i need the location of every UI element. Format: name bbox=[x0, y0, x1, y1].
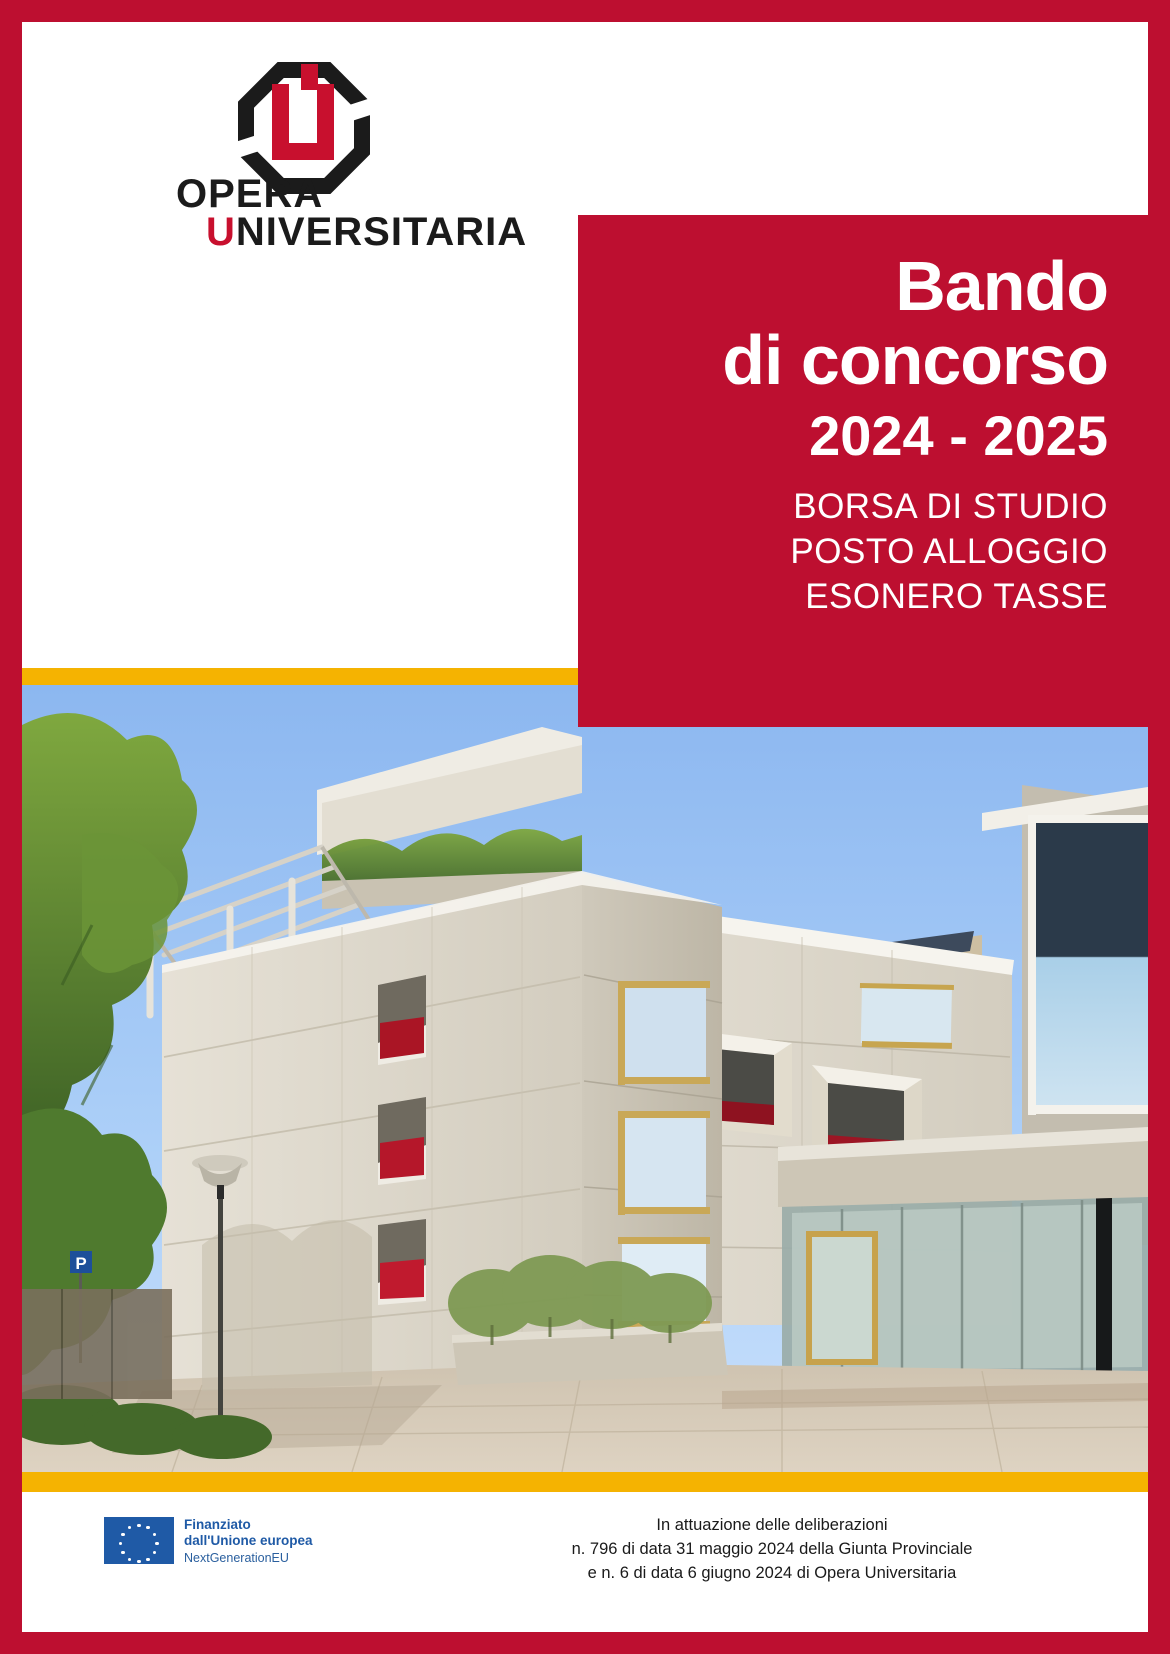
eu-text-line-3: NextGenerationEU bbox=[184, 1551, 312, 1566]
title-line-1: Bando bbox=[612, 249, 1108, 323]
frame-right bbox=[1148, 0, 1170, 1654]
accent-bar-bottom bbox=[22, 1472, 1148, 1492]
eu-text-line-1: Finanziato bbox=[184, 1517, 312, 1533]
eu-funding-logo: Finanziato dall'Unione europea NextGener… bbox=[104, 1517, 312, 1566]
deliberation-line-3: e n. 6 di data 6 giugno 2024 di Opera Un… bbox=[452, 1562, 1092, 1586]
logo-area: OPERA UNIVERSITARIA bbox=[22, 22, 582, 668]
deliberation-note: In attuazione delle deliberazioni n. 796… bbox=[452, 1514, 1092, 1586]
title-line-2: di concorso bbox=[612, 323, 1108, 397]
title-years: 2024 - 2025 bbox=[612, 403, 1108, 469]
footer: Finanziato dall'Unione europea NextGener… bbox=[22, 1492, 1148, 1632]
subtitle-item-2: POSTO ALLOGGIO bbox=[612, 530, 1108, 575]
subtitle-list: BORSA DI STUDIO POSTO ALLOGGIO ESONERO T… bbox=[612, 485, 1108, 619]
deliberation-line-2: n. 796 di data 31 maggio 2024 della Giun… bbox=[452, 1538, 1092, 1562]
title-block: Bando di concorso 2024 - 2025 BORSA DI S… bbox=[578, 215, 1170, 727]
subtitle-item-1: BORSA DI STUDIO bbox=[612, 485, 1108, 530]
eu-logo-text: Finanziato dall'Unione europea NextGener… bbox=[184, 1517, 312, 1566]
logo-word-rest: NIVERSITARIA bbox=[236, 210, 527, 254]
logo-word-universitaria: UNIVERSITARIA bbox=[206, 212, 527, 252]
deliberation-line-1: In attuazione delle deliberazioni bbox=[452, 1514, 1092, 1538]
eu-flag-icon bbox=[104, 1517, 174, 1564]
logo-word-opera: OPERA bbox=[176, 174, 323, 214]
frame-bottom bbox=[0, 1632, 1170, 1654]
eu-text-line-2: dall'Unione europea bbox=[184, 1533, 312, 1549]
svg-text:P: P bbox=[75, 1254, 86, 1273]
opera-universitaria-logo: OPERA UNIVERSITARIA bbox=[142, 62, 442, 242]
photo-illustration: P bbox=[22, 685, 1148, 1472]
frame-left bbox=[0, 0, 22, 1654]
cover-page: P OPERA bbox=[0, 0, 1170, 1654]
subtitle-item-3: ESONERO TASSE bbox=[612, 575, 1108, 620]
frame-top bbox=[0, 0, 1170, 22]
cover-photograph: P bbox=[22, 685, 1148, 1472]
logo-accent-letter: U bbox=[206, 210, 236, 254]
